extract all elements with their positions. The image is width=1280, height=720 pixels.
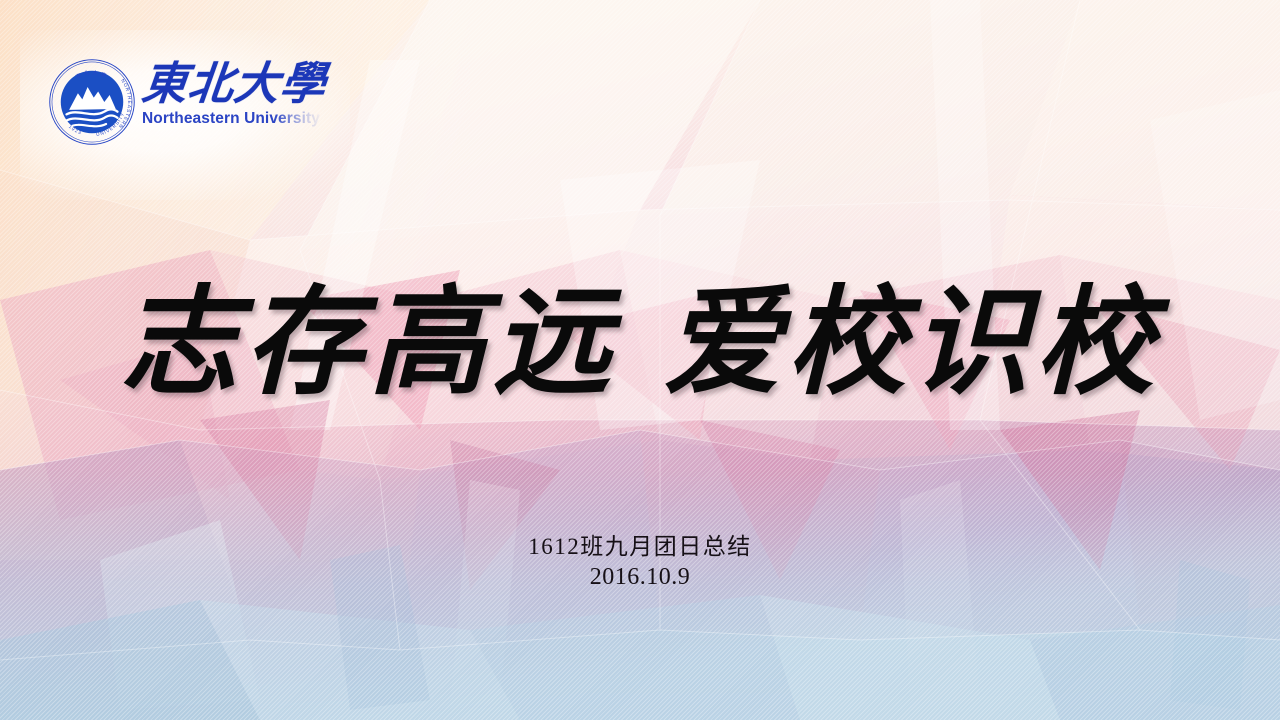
university-logo: NORTHEASTERN UNIVERSITY 1923 東北大學 東北大學 N… (48, 58, 326, 146)
title-slide: NORTHEASTERN UNIVERSITY 1923 東北大學 東北大學 N… (0, 0, 1280, 720)
logo-english-name: Northeastern University (142, 110, 320, 128)
neu-circular-emblem-icon: NORTHEASTERN UNIVERSITY 1923 東北大學 (48, 58, 136, 146)
logo-chinese-name: 東北大學 (140, 62, 329, 107)
logo-wordmark: 東北大學 Northeastern University (142, 62, 326, 128)
page-title: 志存高远 爱校识校 (0, 282, 1280, 402)
subtitle-block: 1612班九月团日总结 2016.10.9 (0, 532, 1280, 594)
subtitle-text: 1612班九月团日总结 (0, 532, 1280, 562)
subtitle-date: 2016.10.9 (0, 562, 1280, 594)
